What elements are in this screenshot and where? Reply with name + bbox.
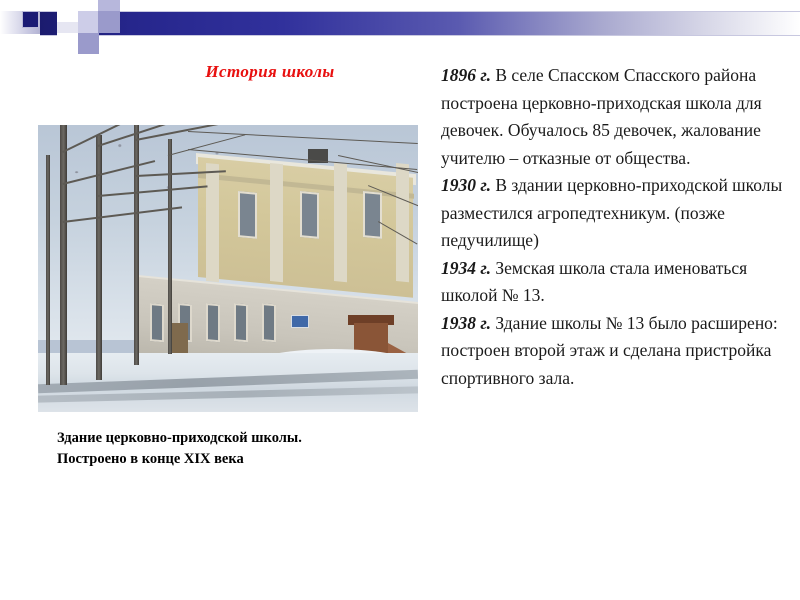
- header-decor-square-mid: [98, 11, 120, 33]
- photo-tree-canopy: [38, 125, 298, 309]
- page-title: История школы: [120, 62, 420, 82]
- slide-header-decoration: [0, 0, 800, 56]
- header-decor-square-topleft: [0, 0, 22, 11]
- photo-pilaster: [334, 163, 347, 282]
- photo-caption-line-2: Построено в конце XIX века: [57, 449, 427, 470]
- header-band-bar: [40, 11, 800, 36]
- header-decor-square-white-2: [78, 0, 100, 11]
- photo-upper-window: [363, 191, 382, 239]
- header-decor-square-mid-bottom: [78, 33, 99, 54]
- history-entry-text: Здание школы № 13 было расширено: постро…: [441, 313, 778, 388]
- history-text-column: 1896 г. В селе Спасском Спасского района…: [441, 62, 791, 392]
- photo-upper-window: [300, 191, 319, 239]
- history-entry-year: 1938 г.: [441, 313, 491, 333]
- history-entry-year: 1896 г.: [441, 65, 491, 85]
- school-building-photo: [38, 125, 418, 412]
- history-entry-year: 1934 г.: [441, 258, 491, 278]
- photo-caption: Здание церковно-приходской школы. Постро…: [57, 428, 427, 470]
- history-entry-year: 1930 г.: [441, 175, 491, 195]
- photo-pilaster: [396, 163, 409, 282]
- photo-side-porch: [172, 323, 188, 353]
- photo-memorial-plaque: [291, 315, 309, 328]
- header-decor-square-pale: [78, 11, 99, 33]
- history-entry-text: В здании церковно-приходской школы разме…: [441, 175, 782, 250]
- header-decor-square-navy: [22, 11, 39, 28]
- header-decor-square-white-1: [57, 0, 78, 22]
- header-decor-square-white-4: [57, 33, 78, 54]
- photo-caption-line-1: Здание церковно-приходской школы.: [57, 428, 427, 449]
- header-decor-square-white-3: [120, 0, 142, 11]
